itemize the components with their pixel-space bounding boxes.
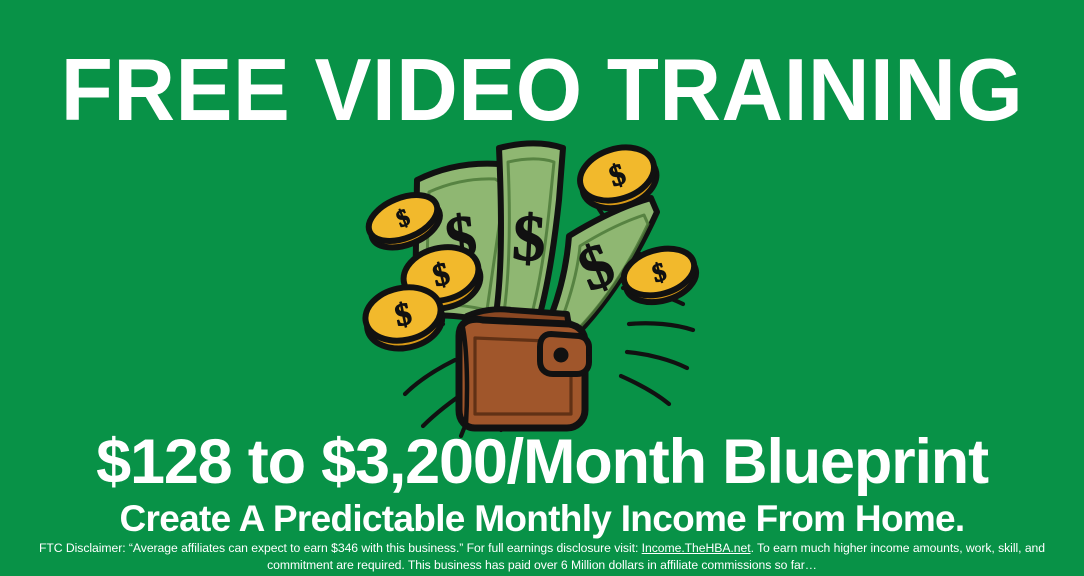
sub-headline: Create A Predictable Monthly Income From… [0,498,1084,540]
promotional-banner: FREE VIDEO TRAINING [0,0,1084,576]
ftc-disclaimer: FTC Disclaimer: “Average affiliates can … [14,540,1070,573]
disclaimer-text-part1: FTC Disclaimer: “Average affiliates can … [39,541,642,555]
page-title: FREE VIDEO TRAINING [16,44,1067,136]
svg-text:$: $ [511,201,548,276]
wallet-icon [459,309,589,428]
wallet-with-money-illustration: $ $ $ $ [371,138,713,438]
disclosure-link[interactable]: Income.TheHBA.net [642,541,751,555]
price-headline: $128 to $3,200/Month Blueprint [0,427,1084,497]
